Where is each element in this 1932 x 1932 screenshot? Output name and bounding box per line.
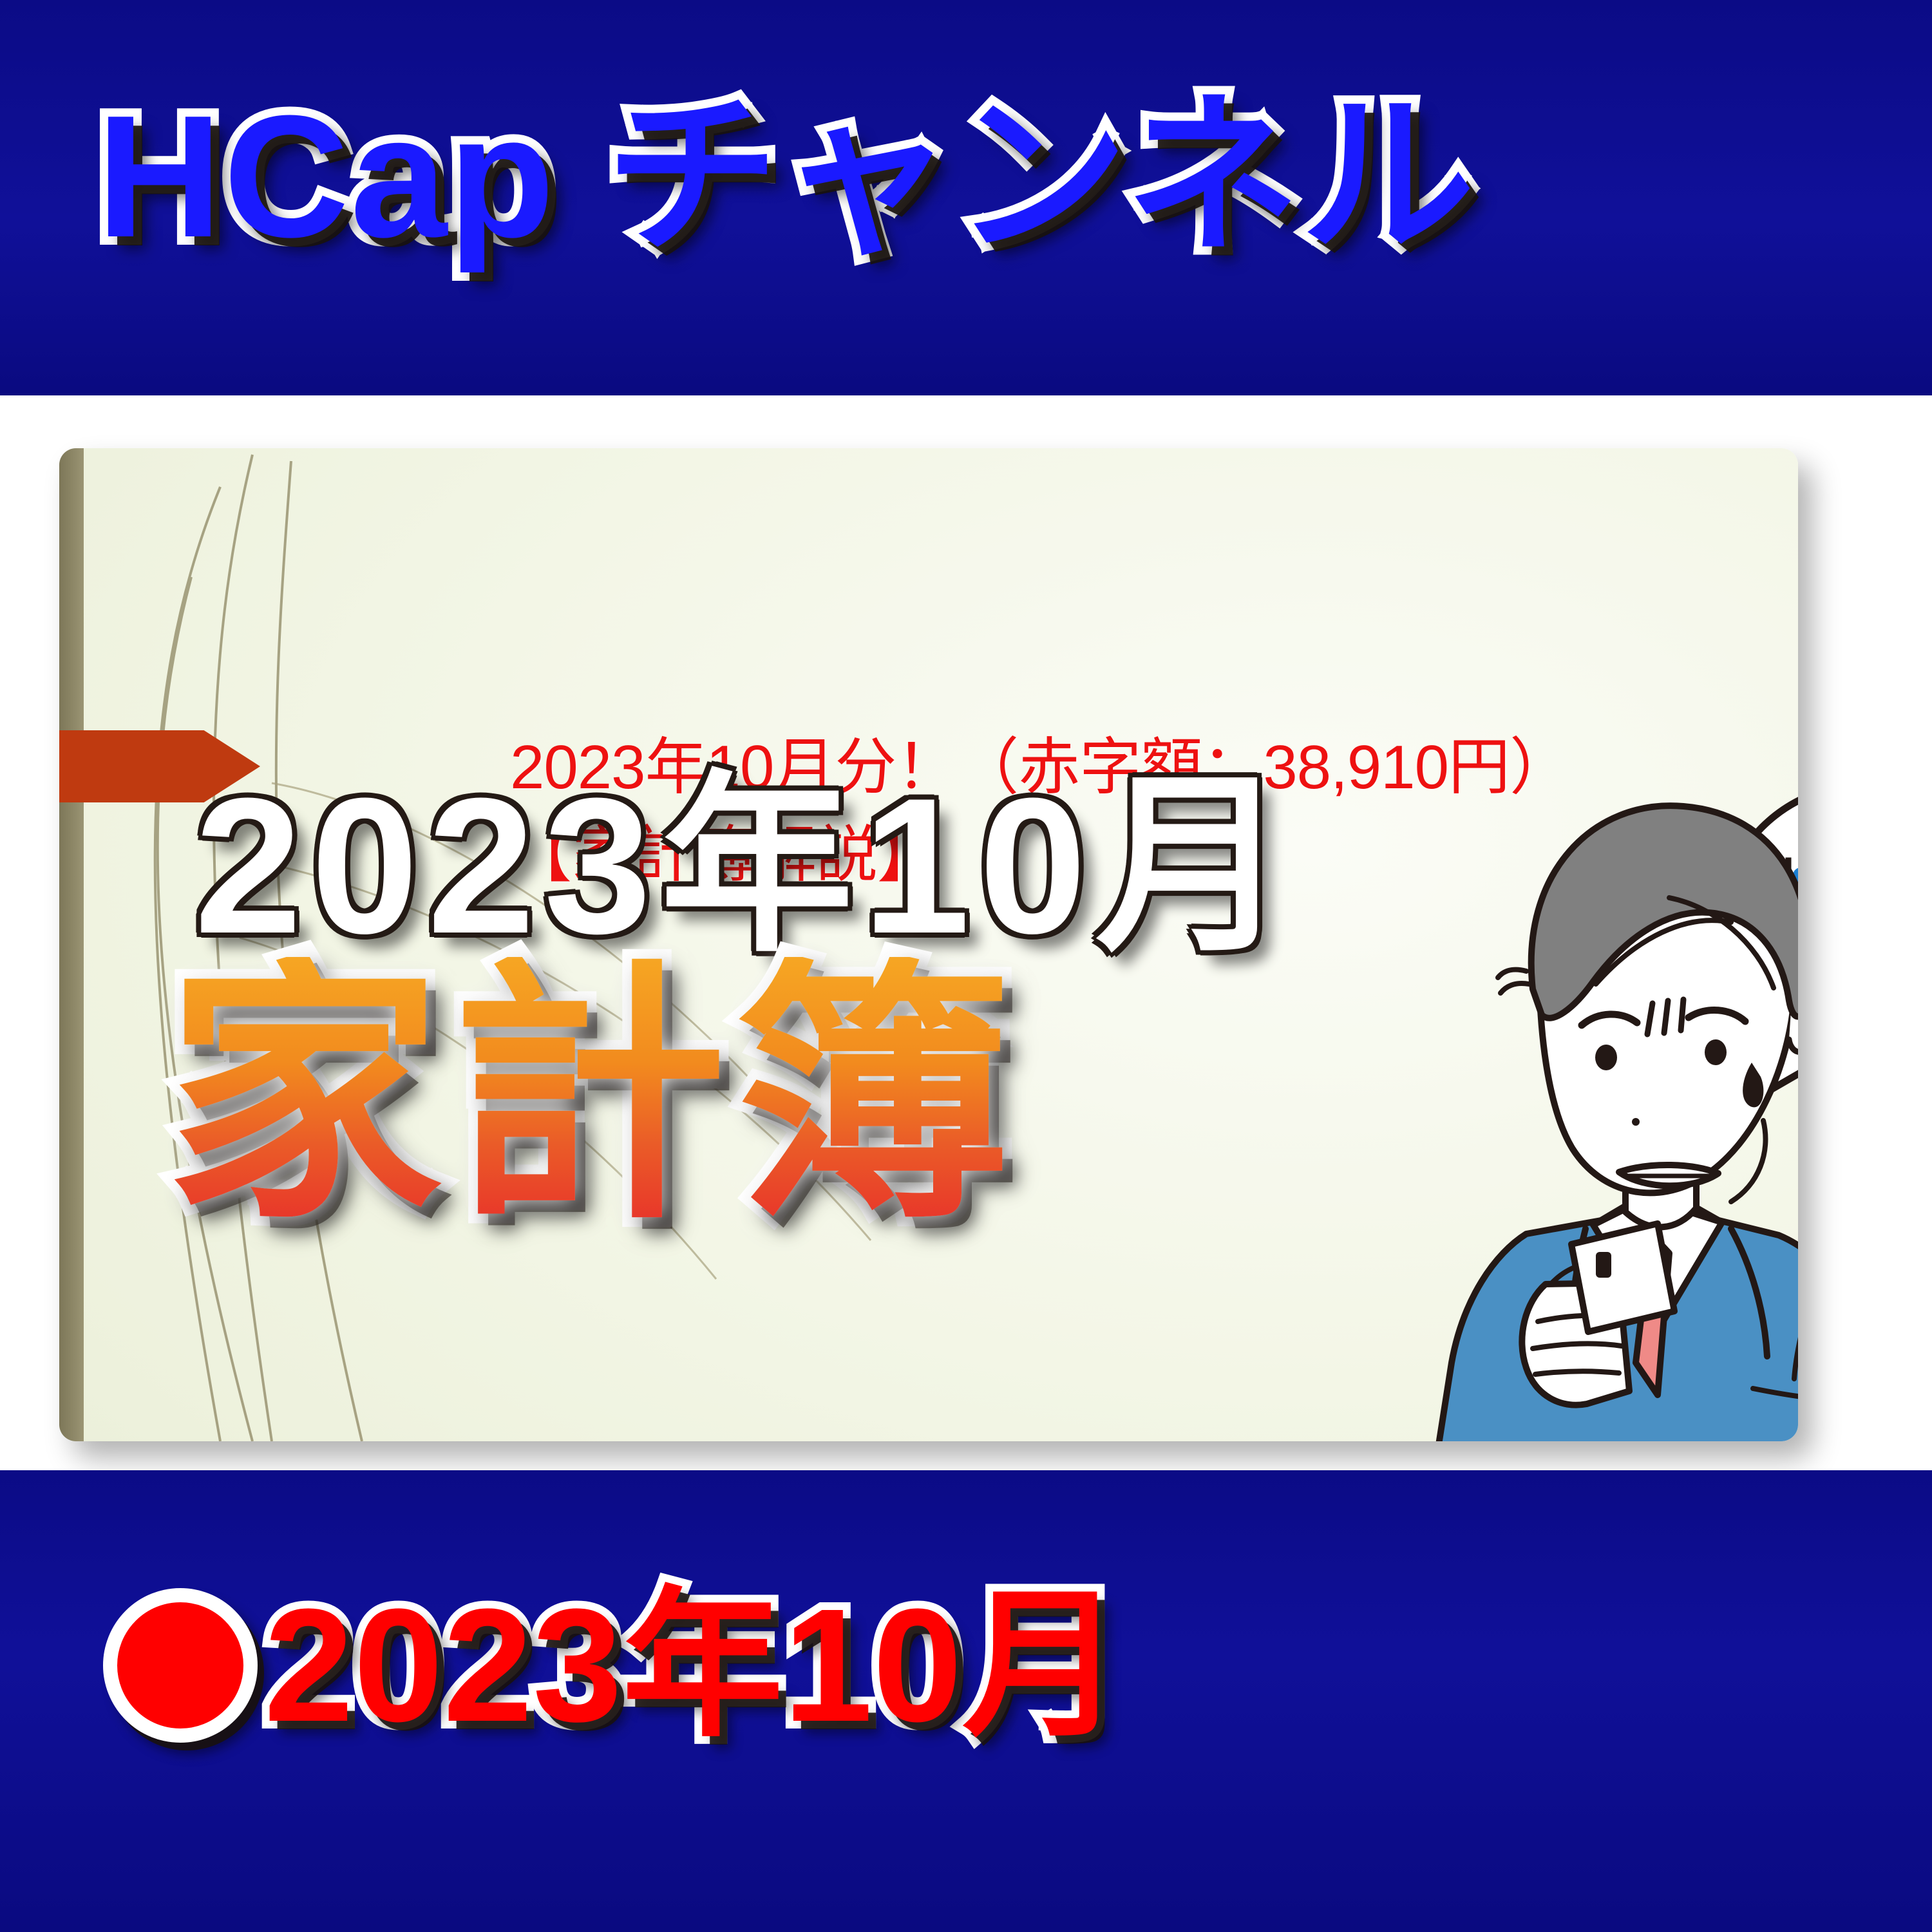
year-month-headline: 2023年10月 [194, 769, 1298, 962]
eye-left [1595, 1045, 1617, 1070]
video-thumbnail-card[interactable]: 2023年10月分！（赤字額：38,910円） 【家計簿解説】 2023年10月… [59, 448, 1798, 1441]
smartphone [1571, 1224, 1674, 1332]
red-bullet-icon [103, 1588, 258, 1743]
channel-title: HCap チャンネル [97, 90, 1874, 264]
eye-right [1705, 1039, 1727, 1065]
businessman-illustration [1367, 744, 1798, 1441]
header-band: HCap チャンネル [0, 0, 1932, 395]
footer-band: 2023年10月 [0, 1470, 1932, 1932]
headline-kakeibo: 家計簿 [166, 957, 1019, 1234]
thumbnail-canvas: HCap チャンネル [0, 0, 1932, 1932]
footer-label: 2023年10月 [264, 1585, 1123, 1746]
footer-row: 2023年10月 [103, 1585, 1123, 1746]
thumbnail-stage: 2023年10月分！（赤字額：38,910円） 【家計簿解説】 2023年10月… [0, 395, 1932, 1470]
